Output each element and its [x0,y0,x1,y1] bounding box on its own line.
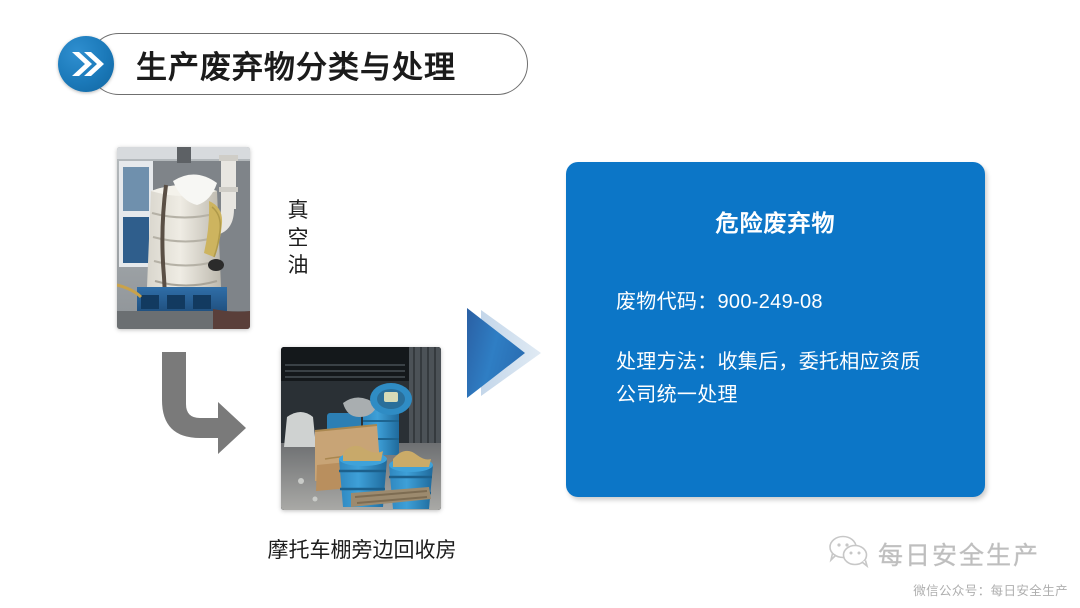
watermark-subtitle: 微信公众号：每日安全生产 [828,580,1072,599]
photo2-caption: 摩托车棚旁边回收房 [258,534,466,564]
slide-title-bar: 生产废弃物分类与处理 [58,33,456,95]
watermark: 每日安全生产 微信公众号：每日安全生产 [828,534,1072,599]
page-title: 生产废弃物分类与处理 [136,42,456,87]
photo1-label-char-1: 空 [281,225,315,253]
card-title: 危险废弃物 [616,204,935,238]
disposal-method-line: 处理方法：收集后，委托相应资质公司统一处理 [616,346,935,411]
waste-code-line: 废物代码：900-249-08 [616,286,935,318]
double-chevron-right-icon [58,36,114,92]
photo-recycling-room-drums [281,347,441,510]
watermark-brand: 每日安全生产 [878,536,1040,572]
hazardous-waste-card: 危险废弃物 废物代码：900-249-08 处理方法：收集后，委托相应资质公司统… [566,162,985,497]
photo1-label-char-0: 真 [281,197,315,225]
elbow-arrow-down-right-icon [150,348,260,458]
photo1-label: 真 空 油 [281,197,315,280]
photo1-label-char-2: 油 [281,252,315,280]
arrow-right-icon [455,296,565,406]
wechat-logo-icon [828,534,870,573]
photo-vacuum-oil-tank [117,147,250,329]
